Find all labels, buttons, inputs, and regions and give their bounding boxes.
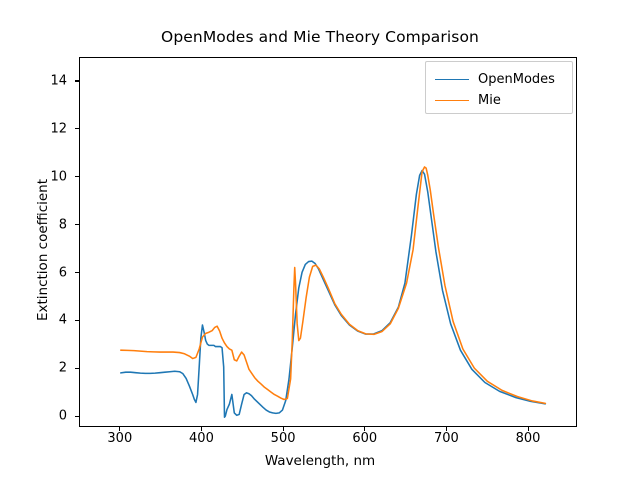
y-tick-label: 8 bbox=[59, 217, 67, 232]
x-tick-label: 800 bbox=[516, 431, 541, 446]
series-line-openmodes bbox=[121, 171, 546, 418]
legend-item-mie: Mie bbox=[426, 90, 572, 111]
y-tick-label: 14 bbox=[50, 73, 67, 88]
y-tick-mark bbox=[75, 368, 79, 369]
y-axis-label: Extinction coefficient bbox=[35, 110, 51, 390]
x-tick-mark bbox=[446, 427, 447, 431]
x-axis-label: Wavelength, nm bbox=[0, 453, 640, 469]
y-tick-mark bbox=[75, 416, 79, 417]
y-tick-label: 12 bbox=[50, 121, 67, 136]
x-tick-label: 500 bbox=[271, 431, 296, 446]
x-tick-label: 300 bbox=[107, 431, 132, 446]
legend-item-openmodes: OpenModes bbox=[426, 69, 572, 90]
y-tick-mark bbox=[75, 320, 79, 321]
x-tick-label: 400 bbox=[189, 431, 214, 446]
y-tick-label: 4 bbox=[59, 313, 67, 328]
x-tick-mark bbox=[364, 427, 365, 431]
y-tick-label: 10 bbox=[50, 169, 67, 184]
y-tick-mark bbox=[75, 272, 79, 273]
legend-label-openmodes: OpenModes bbox=[478, 72, 555, 87]
legend-swatch-mie bbox=[435, 100, 469, 101]
y-tick-label: 0 bbox=[59, 409, 67, 424]
series-line-mie bbox=[121, 167, 546, 403]
x-tick-mark bbox=[283, 427, 284, 431]
matplotlib-figure: OpenModes and Mie Theory Comparison 0246… bbox=[0, 0, 640, 480]
y-tick-label: 6 bbox=[59, 265, 67, 280]
y-tick-mark bbox=[75, 176, 79, 177]
x-tick-label: 600 bbox=[352, 431, 377, 446]
y-tick-label: 2 bbox=[59, 361, 67, 376]
x-tick-mark bbox=[119, 427, 120, 431]
legend-swatch-openmodes bbox=[435, 79, 469, 80]
legend-label-mie: Mie bbox=[478, 93, 501, 108]
chart-title: OpenModes and Mie Theory Comparison bbox=[0, 28, 640, 46]
y-tick-mark bbox=[75, 80, 79, 81]
y-tick-mark bbox=[75, 128, 79, 129]
x-tick-label: 700 bbox=[434, 431, 459, 446]
x-tick-mark bbox=[201, 427, 202, 431]
y-tick-mark bbox=[75, 224, 79, 225]
chart-legend: OpenModes Mie bbox=[425, 61, 573, 114]
x-tick-mark bbox=[528, 427, 529, 431]
